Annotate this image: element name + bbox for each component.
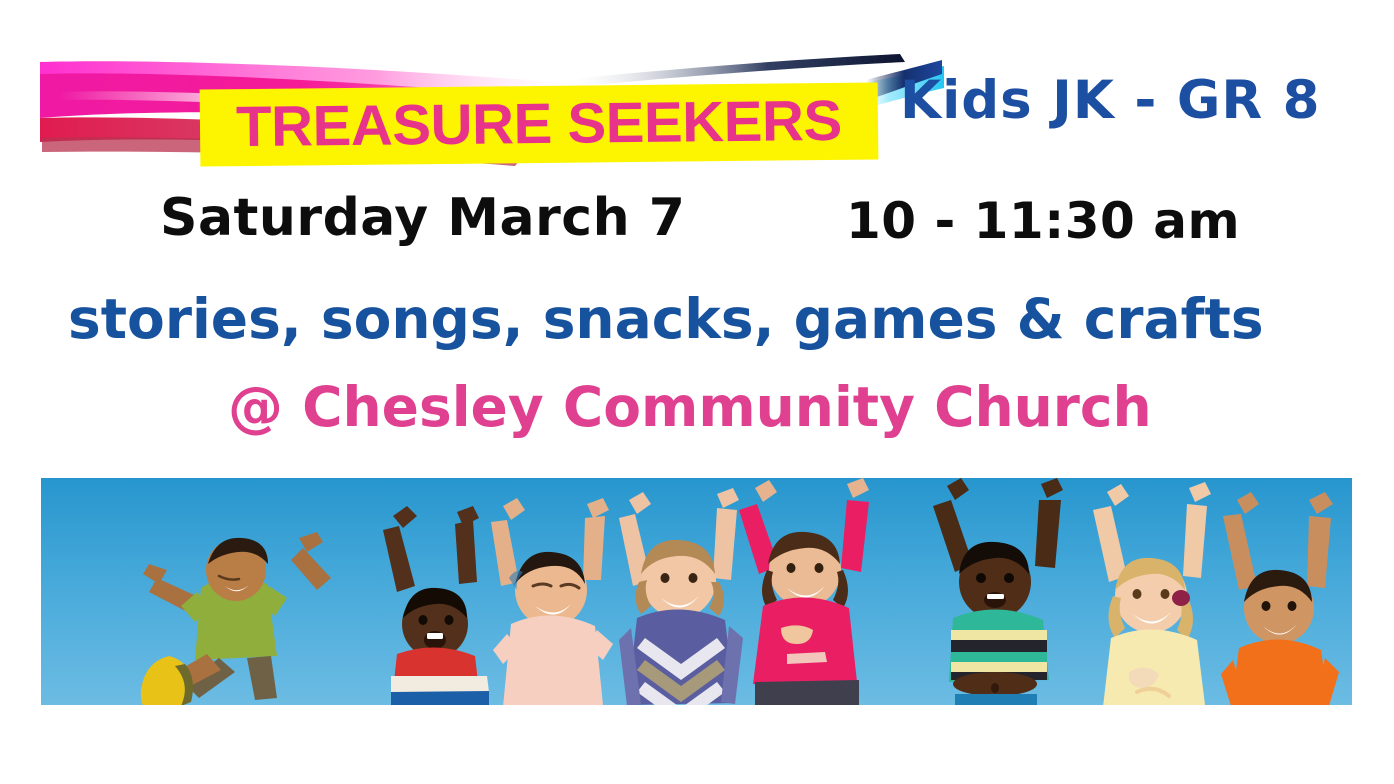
event-location: @ Chesley Community Church (228, 380, 1152, 435)
flyer-title: TREASURE SEEKERS (236, 93, 842, 156)
title-highlight-band: TREASURE SEEKERS (200, 82, 879, 166)
jumping-kids-illustration (41, 478, 1352, 705)
audience-label: Kids JK - GR 8 (900, 74, 1321, 127)
event-activities: stories, songs, snacks, games & crafts (68, 292, 1264, 347)
flyer-canvas: TREASURE SEEKERS Kids JK - GR 8 Saturday… (0, 0, 1394, 784)
event-date: Saturday March 7 (160, 192, 685, 244)
jumping-kids-photo (41, 478, 1352, 705)
event-time: 10 - 11:30 am (846, 196, 1240, 246)
